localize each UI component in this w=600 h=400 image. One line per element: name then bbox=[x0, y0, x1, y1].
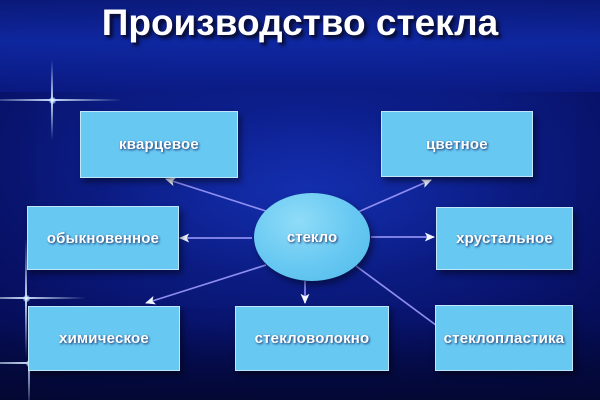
diagram-node-label: хрустальное bbox=[456, 230, 553, 247]
slide-title: Производство стекла bbox=[0, 2, 600, 44]
edge-steklo-kvarcevoe bbox=[166, 179, 269, 212]
diagram-node-obyknovennoe[interactable]: обыкновенное bbox=[27, 206, 179, 270]
diagram-node-cvetnoe[interactable]: цветное bbox=[381, 111, 533, 177]
diagram-node-label: кварцевое bbox=[119, 136, 199, 153]
diagram-node-stekloplastika[interactable]: стеклопластика bbox=[435, 305, 573, 371]
diagram-node-label: стеклопластика bbox=[444, 330, 565, 347]
diagram-node-label: стекловолокно bbox=[255, 330, 370, 347]
diagram-node-steklovolokno[interactable]: стекловолокно bbox=[235, 306, 389, 371]
diagram-node-kvarcevoe[interactable]: кварцевое bbox=[80, 111, 238, 178]
diagram-node-label: цветное bbox=[426, 136, 488, 153]
edge-steklo-himicheskoe bbox=[146, 265, 266, 303]
diagram-node-label: обыкновенное bbox=[47, 230, 159, 247]
edge-steklo-cvetnoe bbox=[358, 180, 431, 212]
diagram-node-himicheskoe[interactable]: химическое bbox=[28, 306, 180, 371]
diagram-node-hrustalnoe[interactable]: хрустальное bbox=[436, 207, 573, 270]
diagram-node-label: химическое bbox=[59, 330, 149, 347]
diagram-center-label: стекло bbox=[287, 229, 337, 246]
slide-canvas: Производство стекла кварцевое цветное об… bbox=[0, 0, 600, 400]
diagram-node-steklo[interactable]: стекло bbox=[254, 193, 370, 281]
